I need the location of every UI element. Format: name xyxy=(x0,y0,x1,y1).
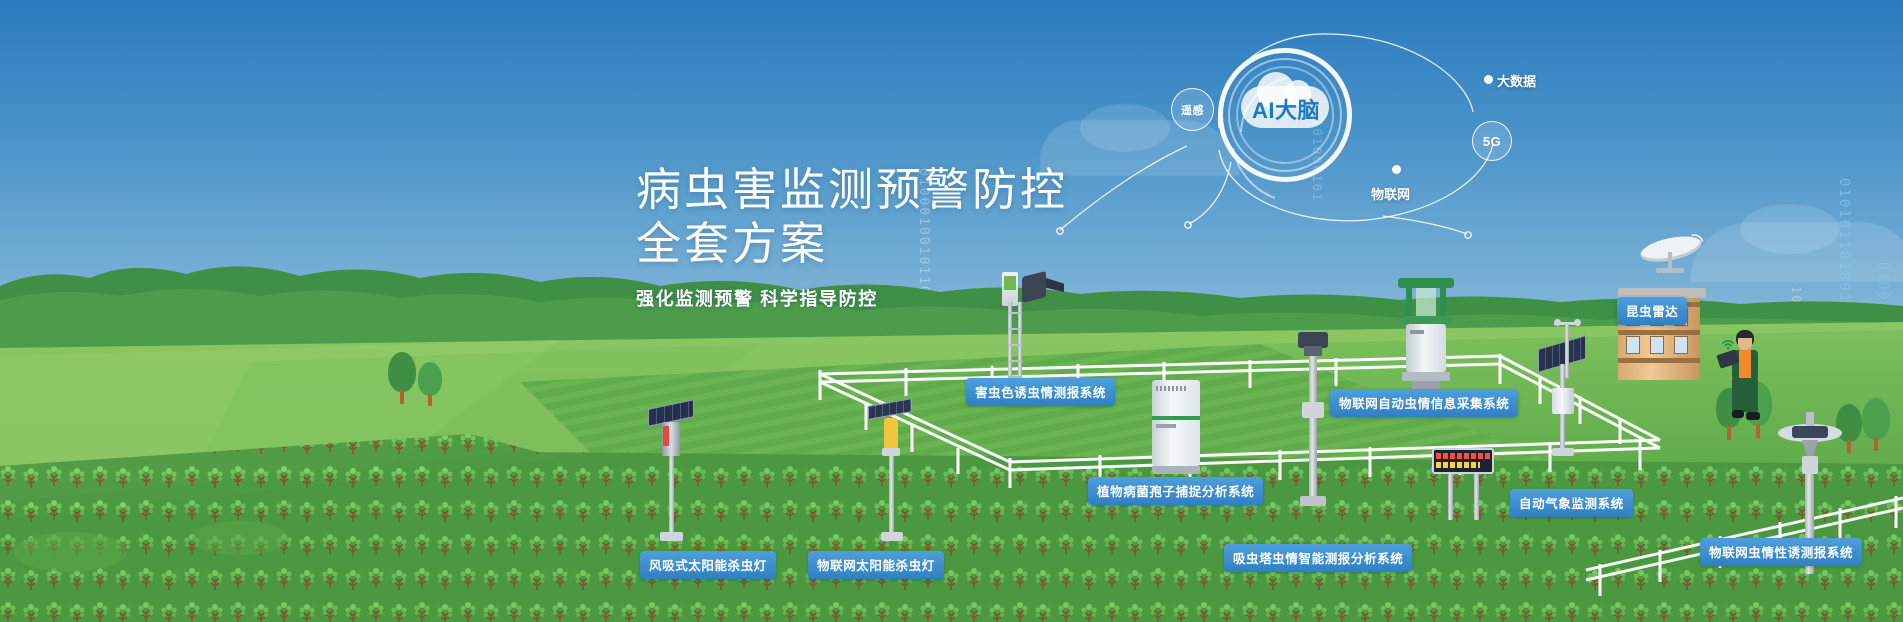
label-iot-auto-insect-collection[interactable]: 物联网自动虫情信息采集系统 xyxy=(1330,389,1518,417)
device-wind-suction-solar-insect-lamp xyxy=(640,400,700,550)
label-color-trap-monitoring[interactable]: 害虫色诱虫情测报系统 xyxy=(966,378,1115,406)
wifi-icon xyxy=(1720,334,1734,348)
banner-illustration: 01000100101101001 0101000101 01010110100… xyxy=(0,0,1903,622)
ai-brain-cluster xyxy=(1115,20,1535,250)
label-spore-capture-analysis[interactable]: 植物病菌孢子捕捉分析系统 xyxy=(1088,477,1263,505)
page-title: 病虫害监测预警防控 全套方案 xyxy=(636,163,1068,271)
led-display-board xyxy=(1432,448,1502,524)
label-suction-tower-forecast[interactable]: 吸虫塔虫情智能测报分析系统 xyxy=(1224,544,1412,572)
page-title-line-2: 全套方案 xyxy=(636,218,828,269)
label-insect-radar[interactable]: 昆虫雷达 xyxy=(1617,297,1687,325)
label-iot-solar-insect-lamp[interactable]: 物联网太阳能杀虫灯 xyxy=(808,551,944,579)
device-spore-capture-analysis xyxy=(1152,380,1210,490)
bush xyxy=(192,521,288,555)
page-title-line-1: 病虫害监测预警防控 xyxy=(636,164,1068,215)
ai-arc-decor xyxy=(1115,20,1535,260)
label-auto-weather-monitoring[interactable]: 自动气象监测系统 xyxy=(1510,489,1633,517)
label-iot-pheromone-forecast[interactable]: 物联网虫情性诱测报系统 xyxy=(1700,538,1862,566)
bush xyxy=(14,532,126,572)
device-iot-solar-insect-lamp xyxy=(862,398,922,548)
label-wind-suction-solar-insect-lamp[interactable]: 风吸式太阳能杀虫灯 xyxy=(640,551,776,579)
cloud-shape xyxy=(1740,204,1840,254)
radar-dish-icon xyxy=(1632,234,1716,280)
farmer-with-tablet xyxy=(1716,330,1774,430)
device-suction-tower-forecast xyxy=(1290,332,1338,522)
device-anemometer xyxy=(1552,322,1602,432)
